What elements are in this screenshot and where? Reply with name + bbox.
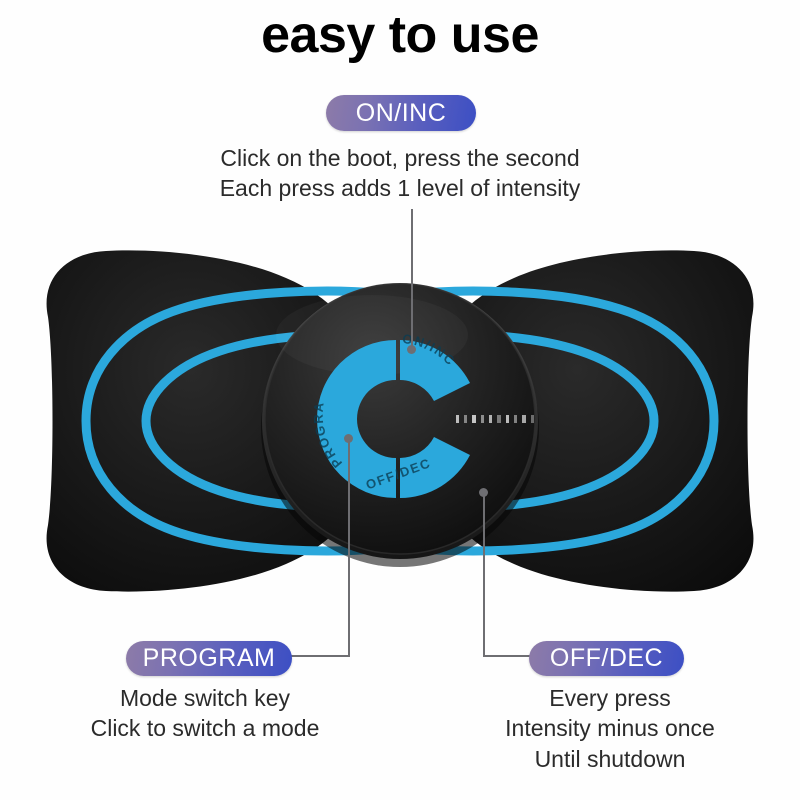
description-on-inc: Click on the boot, press the second Each…	[0, 143, 800, 204]
leader-line-program-horizontal	[283, 655, 350, 657]
leader-line-program-vertical	[348, 440, 350, 656]
badge-off-dec[interactable]: OFF/DEC	[529, 641, 684, 676]
description-program-line-2: Click to switch a mode	[0, 713, 410, 743]
leader-dot-off-dec	[479, 488, 488, 497]
description-off-dec-line-3: Until shutdown	[420, 744, 800, 774]
description-on-inc-line-1: Click on the boot, press the second	[0, 143, 800, 173]
description-program-line-1: Mode switch key	[0, 683, 410, 713]
description-program: Mode switch key Click to switch a mode	[0, 683, 410, 744]
infographic-page: easy to use	[0, 0, 800, 800]
description-off-dec: Every press Intensity minus once Until s…	[420, 683, 800, 774]
leader-line-off-dec-horizontal	[483, 655, 535, 657]
description-off-dec-line-2: Intensity minus once	[420, 713, 800, 743]
badge-on-inc[interactable]: ON/INC	[326, 95, 476, 131]
leader-dot-on-inc	[407, 345, 416, 354]
page-title: easy to use	[0, 8, 800, 63]
leader-line-on-inc	[411, 209, 413, 351]
description-off-dec-line-1: Every press	[420, 683, 800, 713]
leader-line-off-dec-vertical	[483, 494, 485, 656]
leader-dot-program	[344, 434, 353, 443]
description-on-inc-line-2: Each press adds 1 level of intensity	[0, 173, 800, 203]
badge-program[interactable]: PROGRAM	[126, 641, 292, 676]
device-illustration: ON/INC PROGRAM OFF/DEC	[0, 225, 800, 615]
